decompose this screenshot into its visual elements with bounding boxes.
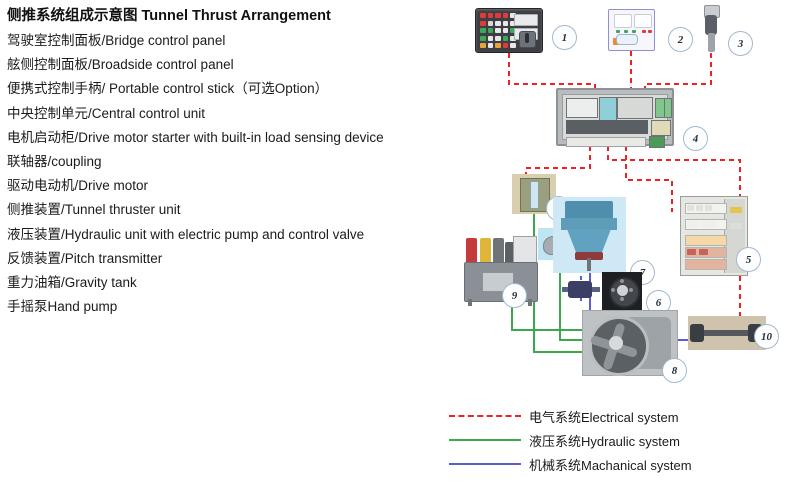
diagram-canvas: 侧推系统组成示意图 Tunnel Thrust Arrangement 驾驶室控… [0, 0, 788, 490]
legend-row-electrical: 电气系统Electrical system [449, 404, 779, 428]
portable-control-stick-image [702, 5, 720, 53]
legend-row-hydraulic: 液压系统Hydraulic system [449, 428, 779, 452]
badge-5: 5 [736, 247, 761, 272]
hydraulic-line-swatch [449, 439, 521, 441]
legend-label-electrical: 电气系统Electrical system [529, 407, 679, 426]
legend-label-mechanical: 机械系统Machanical system [529, 455, 692, 474]
central-control-unit-image [556, 88, 674, 146]
badge-1: 1 [552, 25, 577, 50]
electrical-line-swatch [449, 415, 521, 417]
system-type-legend: 电气系统Electrical system 液压系统Hydraulic syst… [449, 404, 779, 476]
component-label-12: 手摇泵Hand pump [7, 295, 457, 319]
badge-4: 4 [683, 126, 708, 151]
legend-label-hydraulic: 液压系统Hydraulic system [529, 431, 680, 450]
badge-9: 9 [502, 283, 527, 308]
component-label-3: 便携式控制手柄/ Portable control stick（可选Option… [7, 77, 457, 101]
mechanical-line-swatch [449, 463, 521, 465]
component-label-8: 侧推装置/Tunnel thruster unit [7, 198, 457, 222]
component-label-4: 中央控制单元/Central control unit [7, 102, 457, 126]
hydraulic-unit-image [460, 234, 540, 306]
badge-2: 2 [668, 27, 693, 52]
component-label-1: 驾驶室控制面板/Bridge control panel [7, 29, 457, 53]
component-label-10: 反馈装置/Pitch transmitter [7, 247, 457, 271]
component-label-5: 电机启动柜/Drive motor starter with built-in … [7, 126, 457, 150]
legend-row-mechanical: 机械系统Machanical system [449, 452, 779, 476]
page-title: 侧推系统组成示意图 Tunnel Thrust Arrangement [7, 6, 457, 26]
broadside-control-panel-image [608, 9, 655, 51]
component-label-11: 重力油箱/Gravity tank [7, 271, 457, 295]
badge-10: 10 [754, 324, 779, 349]
tunnel-thruster-unit-image [553, 197, 626, 273]
component-label-7: 驱动电动机/Drive motor [7, 174, 457, 198]
component-legend-list: 侧推系统组成示意图 Tunnel Thrust Arrangement 驾驶室控… [7, 6, 457, 319]
badge-8: 8 [662, 358, 687, 383]
badge-3: 3 [728, 31, 753, 56]
coupling-image [602, 272, 642, 310]
component-label-6: 联轴器/coupling [7, 150, 457, 174]
component-label-9: 液压装置/Hydraulic unit with electric pump a… [7, 223, 457, 247]
bridge-control-panel-image [475, 8, 543, 53]
component-label-2: 舷侧控制面板/Broadside control panel [7, 53, 457, 77]
drive-motor-image [562, 276, 600, 304]
